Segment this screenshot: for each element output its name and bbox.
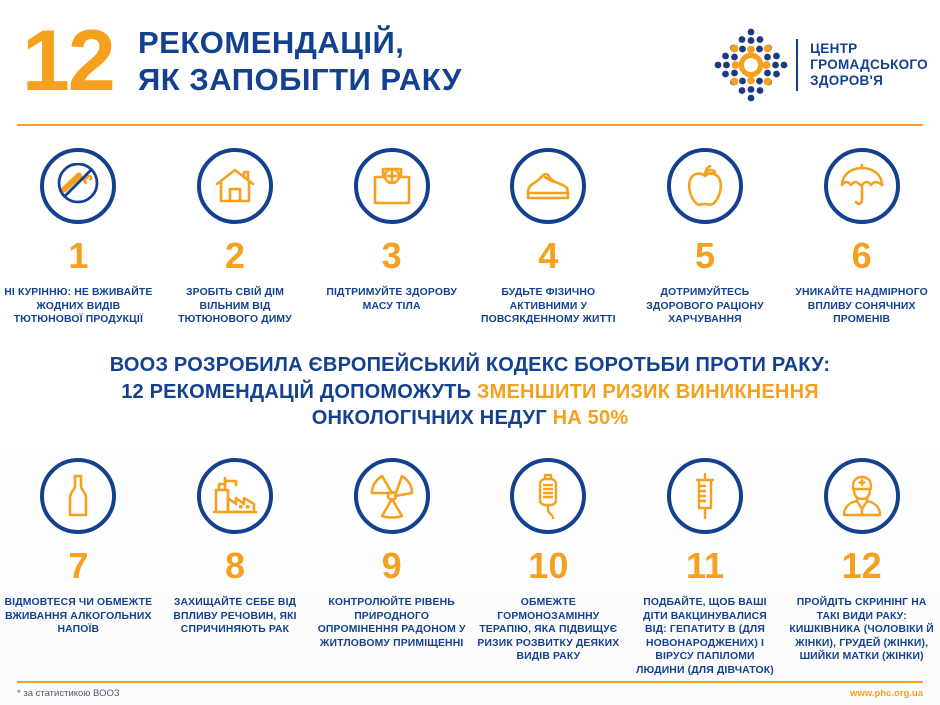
recommendation-number: 1 — [68, 238, 88, 274]
logo-text-line-1: ЦЕНТР — [810, 41, 928, 57]
recommendation-number: 6 — [852, 238, 872, 274]
recommendation-caption: БУДЬТЕ ФІЗИЧНО АКТИВНИМИ У ПОВСЯКДЕННОМУ… — [474, 286, 623, 327]
banner-line-3-highlight: НА 50% — [553, 407, 629, 429]
house-icon — [213, 164, 257, 208]
page-title-line-1: РЕКОМЕНДАЦІЙ, — [138, 24, 462, 61]
header-divider — [17, 124, 923, 126]
recommendation-number: 5 — [695, 238, 715, 274]
logo-dot-mark — [712, 26, 790, 104]
recommendations-row-bottom: 7 ВІДМОВТЕСЯ ЧИ ОБМЕЖТЕ ВЖИВАННЯ АЛКОГОЛ… — [0, 458, 940, 677]
recommendation-number: 9 — [382, 548, 402, 584]
icon-circle — [824, 458, 900, 534]
radiation-icon — [369, 473, 415, 519]
banner-line-3: ОНКОЛОГІЧНИХ НЕДУГ НА 50% — [0, 405, 940, 432]
icon-circle — [667, 458, 743, 534]
recommendation-4: 4 БУДЬТЕ ФІЗИЧНО АКТИВНИМИ У ПОВСЯКДЕННО… — [470, 148, 627, 327]
recommendation-1: 1 НІ КУРІННЮ: НЕ ВЖИВАЙТЕ ЖОДНИХ ВИДІВ Т… — [0, 148, 157, 327]
bottle-icon — [62, 473, 94, 519]
recommendation-8: 8 ЗАХИЩАЙТЕ СЕБЕ ВІД ВПЛИВУ РЕЧОВИН, ЯКІ… — [157, 458, 314, 677]
recommendation-3: 3 ПІДТРИМУЙТЕ ЗДОРОВУ МАСУ ТІЛА — [313, 148, 470, 327]
recommendation-caption: ПОДБАЙТЕ, ЩОБ ВАШІ ДІТИ ВАКЦИНУВАЛИСЯ ВІ… — [631, 596, 780, 677]
recommendations-row-top: 1 НІ КУРІННЮ: НЕ ВЖИВАЙТЕ ЖОДНИХ ВИДІВ Т… — [0, 148, 940, 327]
logo-text-line-2: ГРОМАДСЬКОГО — [810, 57, 928, 73]
recommendation-caption: ЗАХИЩАЙТЕ СЕБЕ ВІД ВПЛИВУ РЕЧОВИН, ЯКІ С… — [161, 596, 310, 637]
icon-circle — [197, 148, 273, 224]
footer-note: * за статистикою ВООЗ — [17, 688, 120, 699]
logo: ЦЕНТР ГРОМАДСЬКОГО ЗДОРОВ'Я — [712, 26, 928, 104]
recommendation-caption: ОБМЕЖТЕ ГОРМОНОЗАМІННУ ТЕРАПІЮ, ЯКА ПІДВ… — [474, 596, 623, 664]
icon-circle — [354, 458, 430, 534]
doctor-icon — [839, 473, 885, 519]
recommendation-caption: КОНТРОЛЮЙТЕ РІВЕНЬ ПРИРОДНОГО ОПРОМІНЕНН… — [317, 596, 466, 650]
page-title-line-2: ЯК ЗАПОБІГТИ РАКУ — [138, 61, 462, 98]
recommendation-number: 8 — [225, 548, 245, 584]
recommendation-9: 9 КОНТРОЛЮЙТЕ РІВЕНЬ ПРИРОДНОГО ОПРОМІНЕ… — [313, 458, 470, 677]
logo-divider — [796, 39, 798, 91]
logo-text: ЦЕНТР ГРОМАДСЬКОГО ЗДОРОВ'Я — [810, 41, 928, 89]
icon-circle — [197, 458, 273, 534]
syringe-icon — [690, 472, 720, 520]
recommendation-caption: НІ КУРІННЮ: НЕ ВЖИВАЙТЕ ЖОДНИХ ВИДІВ ТЮТ… — [4, 286, 153, 327]
icon-circle — [354, 148, 430, 224]
recommendation-number: 7 — [68, 548, 88, 584]
page-title: РЕКОМЕНДАЦІЙ, ЯК ЗАПОБІГТИ РАКУ — [138, 24, 462, 98]
icon-circle — [667, 148, 743, 224]
banner-line-2: 12 РЕКОМЕНДАЦІЙ ДОПОМОЖУТЬ ЗМЕНШИТИ РИЗИ… — [0, 379, 940, 406]
infographic-page: 12 РЕКОМЕНДАЦІЙ, ЯК ЗАПОБІГТИ РАКУ — [0, 0, 940, 705]
icon-circle — [824, 148, 900, 224]
recommendation-caption: ПРОЙДІТЬ СКРИНІНГ НА ТАКІ ВИДИ РАКУ: КИШ… — [787, 596, 936, 664]
recommendation-caption: ДОТРИМУЙТЕСЬ ЗДОРОВОГО РАЦІОНУ ХАРЧУВАНН… — [631, 286, 780, 327]
banner-line-3-blue: ОНКОЛОГІЧНИХ НЕДУГ — [312, 407, 553, 429]
iv-drip-icon — [531, 472, 565, 520]
headline-number: 12 — [22, 18, 114, 104]
umbrella-icon — [839, 163, 885, 209]
header: 12 РЕКОМЕНДАЦІЙ, ЯК ЗАПОБІГТИ РАКУ — [0, 0, 940, 118]
recommendation-caption: ЗРОБІТЬ СВІЙ ДІМ ВІЛЬНИМ ВІД ТЮТЮНОВОГО … — [161, 286, 310, 327]
banner-line-2-blue: 12 РЕКОМЕНДАЦІЙ ДОПОМОЖУТЬ — [121, 381, 477, 403]
no-smoking-icon — [55, 163, 101, 209]
icon-circle — [40, 458, 116, 534]
recommendation-11: 11 ПОДБАЙТЕ, ЩОБ ВАШІ ДІТИ ВАКЦИНУВАЛИСЯ… — [627, 458, 784, 677]
recommendation-number: 11 — [686, 548, 724, 584]
icon-circle — [510, 458, 586, 534]
banner-line-2-highlight: ЗМЕНШИТИ РИЗИК ВИНИКНЕННЯ — [477, 381, 819, 403]
footer-website-link[interactable]: www.phc.org.ua — [850, 688, 923, 699]
recommendation-12: 12 ПРОЙДІТЬ СКРИНІНГ НА ТАКІ ВИДИ РАКУ: … — [783, 458, 940, 677]
apple-icon — [684, 163, 726, 209]
recommendation-caption: ПІДТРИМУЙТЕ ЗДОРОВУ МАСУ ТІЛА — [317, 286, 466, 313]
recommendation-number: 2 — [225, 238, 245, 274]
weight-scale-icon — [371, 165, 413, 207]
recommendation-number: 3 — [382, 238, 402, 274]
recommendation-number: 12 — [842, 548, 882, 584]
recommendation-7: 7 ВІДМОВТЕСЯ ЧИ ОБМЕЖТЕ ВЖИВАННЯ АЛКОГОЛ… — [0, 458, 157, 677]
recommendation-10: 10 ОБМЕЖТЕ ГОРМОНОЗАМІННУ ТЕРАПІЮ, ЯКА П… — [470, 458, 627, 677]
banner-line-1: ВООЗ РОЗРОБИЛА ЄВРОПЕЙСЬКИЙ КОДЕКС БОРОТ… — [0, 352, 940, 379]
logo-text-line-3: ЗДОРОВ'Я — [810, 73, 928, 89]
footer-divider — [17, 681, 923, 683]
recommendation-6: 6 УНИКАЙТЕ НАДМІРНОГО ВПЛИВУ СОНЯЧНИХ ПР… — [783, 148, 940, 327]
recommendation-number: 4 — [538, 238, 558, 274]
recommendation-caption: УНИКАЙТЕ НАДМІРНОГО ВПЛИВУ СОНЯЧНИХ ПРОМ… — [787, 286, 936, 327]
icon-circle — [40, 148, 116, 224]
recommendation-5: 5 ДОТРИМУЙТЕСЬ ЗДОРОВОГО РАЦІОНУ ХАРЧУВА… — [627, 148, 784, 327]
icon-circle — [510, 148, 586, 224]
factory-icon — [212, 474, 258, 518]
recommendation-caption: ВІДМОВТЕСЯ ЧИ ОБМЕЖТЕ ВЖИВАННЯ АЛКОГОЛЬН… — [4, 596, 153, 637]
sneaker-icon — [525, 166, 571, 206]
recommendation-2: 2 ЗРОБІТЬ СВІЙ ДІМ ВІЛЬНИМ ВІД ТЮТЮНОВОГ… — [157, 148, 314, 327]
recommendation-number: 10 — [528, 548, 568, 584]
banner: ВООЗ РОЗРОБИЛА ЄВРОПЕЙСЬКИЙ КОДЕКС БОРОТ… — [0, 352, 940, 432]
